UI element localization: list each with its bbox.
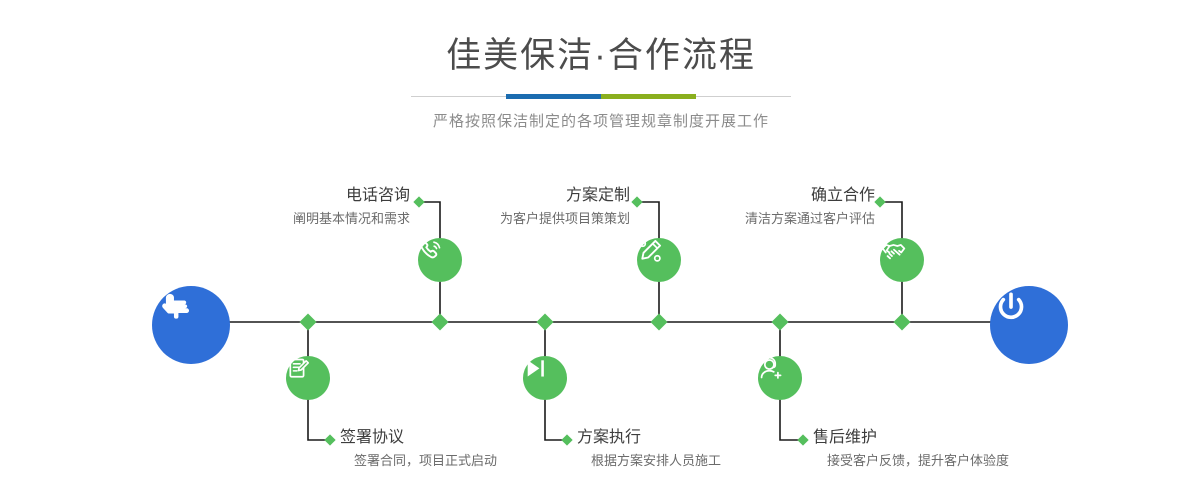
timeline-marker xyxy=(772,314,789,331)
timeline-marker xyxy=(651,314,668,331)
flow-connectors xyxy=(0,0,1202,502)
pointing-hand-icon xyxy=(152,286,194,328)
step-desc: 为客户提供项目策策划 xyxy=(410,209,630,228)
power-icon xyxy=(990,286,1032,328)
timeline-marker xyxy=(300,314,317,331)
step-label-6: 售后维护 接受客户反馈，提升客户体验度 xyxy=(813,428,1009,470)
step-label-1: 电话咨询 阐明基本情况和需求 xyxy=(190,186,410,228)
pen-design-icon xyxy=(637,238,663,264)
step-node-4[interactable] xyxy=(523,356,567,400)
label-marker xyxy=(874,196,885,207)
flow-page: 佳美保洁·合作流程 严格按照保洁制定的各项管理规章制度开展工作 xyxy=(0,0,1202,502)
phone-call-icon xyxy=(418,238,444,264)
step-node-5[interactable] xyxy=(880,238,924,282)
step-title: 方案执行 xyxy=(577,428,721,448)
timeline-marker xyxy=(432,314,449,331)
step-desc: 根据方案安排人员施工 xyxy=(591,451,721,470)
step-desc: 签署合同，项目正式启动 xyxy=(354,451,497,470)
step-title: 确立合作 xyxy=(655,186,875,206)
step-label-2: 签署协议 签署合同，项目正式启动 xyxy=(340,428,497,470)
step-title: 电话咨询 xyxy=(190,186,410,206)
play-execute-icon xyxy=(523,356,548,381)
handshake-icon xyxy=(880,238,907,265)
step-label-4: 方案执行 根据方案安排人员施工 xyxy=(577,428,721,470)
step-title: 签署协议 xyxy=(340,428,497,448)
label-marker xyxy=(631,196,642,207)
label-marker xyxy=(797,434,808,445)
step-desc: 阐明基本情况和需求 xyxy=(190,209,410,228)
flow-start-node[interactable] xyxy=(152,286,230,364)
step-desc: 接受客户反馈，提升客户体验度 xyxy=(827,451,1009,470)
document-sign-icon xyxy=(286,356,311,381)
step-desc: 清洁方案通过客户评估 xyxy=(655,209,875,228)
customer-service-icon xyxy=(758,356,784,382)
step-title: 售后维护 xyxy=(813,428,1009,448)
step-node-2[interactable] xyxy=(286,356,330,400)
step-label-5: 确立合作 清洁方案通过客户评估 xyxy=(655,186,875,228)
process-flow-diagram: 电话咨询 阐明基本情况和需求 方案定制 为客户提供项目策策划 确立合作 清洁方案… xyxy=(0,0,1202,502)
step-title: 方案定制 xyxy=(410,186,630,206)
label-marker xyxy=(324,434,335,445)
step-node-6[interactable] xyxy=(758,356,802,400)
step-label-3: 方案定制 为客户提供项目策策划 xyxy=(410,186,630,228)
timeline-marker xyxy=(894,314,911,331)
timeline-marker xyxy=(537,314,554,331)
step-node-1[interactable] xyxy=(418,238,462,282)
label-marker xyxy=(561,434,572,445)
flow-end-node[interactable] xyxy=(990,286,1068,364)
step-node-3[interactable] xyxy=(637,238,681,282)
label-markers xyxy=(324,196,885,445)
